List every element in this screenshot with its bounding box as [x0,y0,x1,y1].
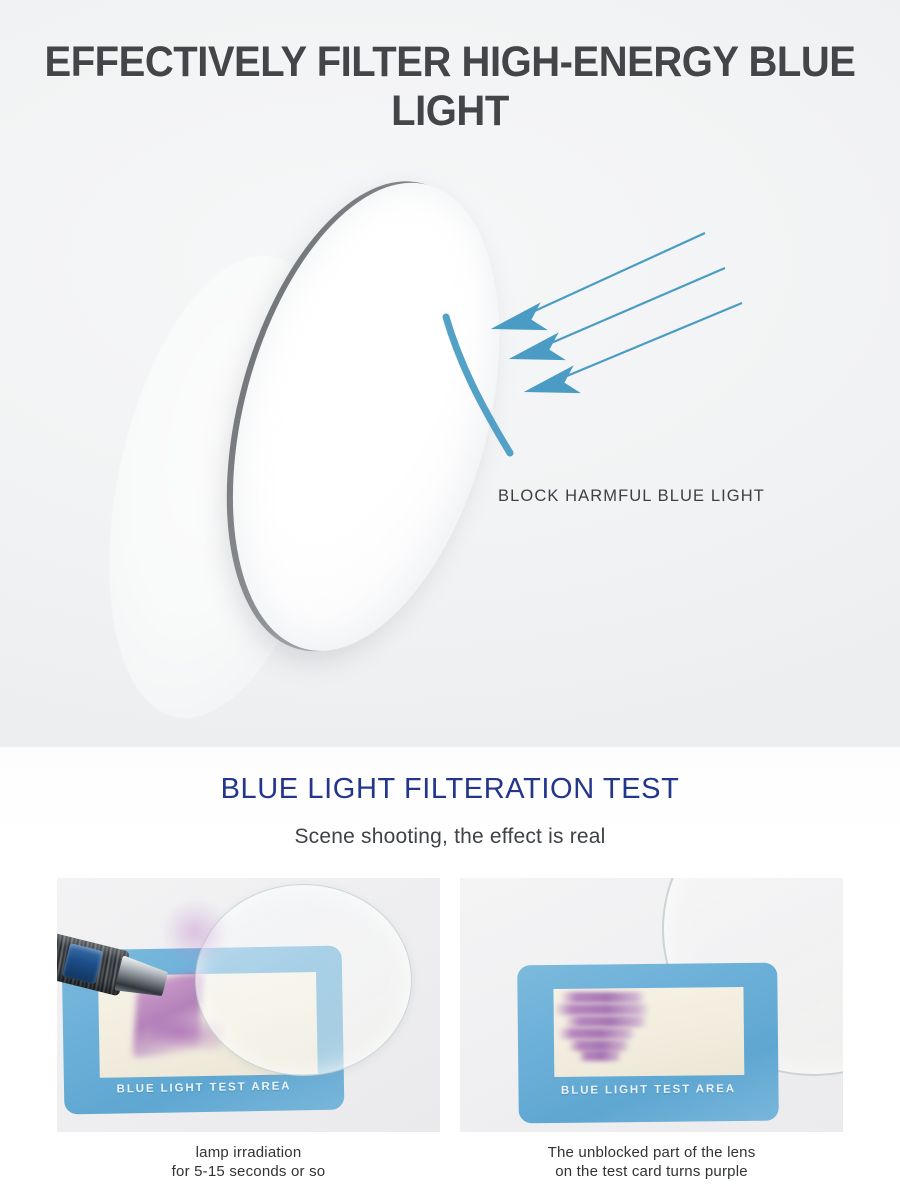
test-section-title: BLUE LIGHT FILTERATION TEST [0,773,900,806]
test-card-label: BLUE LIGHT TEST AREA [64,1080,344,1097]
photo-caption-left: lamp irradiation for 5-15 seconds or so [57,1143,440,1181]
caption-line-1: The unblocked part of the lens [548,1144,756,1161]
test-photo-row: BLUE LIGHT TEST AREA BLUE LIGHT TEST ARE… [57,878,843,1132]
ray-caption: BLOCK HARMFUL BLUE LIGHT [498,487,818,506]
hero-section: EFFECTIVELY FILTER HIGH-ENERGY BLUE LIGH… [0,0,900,746]
caption-line-1: lamp irradiation [196,1144,302,1161]
page-title: EFFECTIVELY FILTER HIGH-ENERGY BLUE LIGH… [32,38,869,136]
test-section-subtitle: Scene shooting, the effect is real [0,825,900,849]
test-card-label: BLUE LIGHT TEST AREA [518,1083,778,1098]
filtration-test-section: BLUE LIGHT FILTERATION TEST Scene shooti… [0,746,900,1199]
photo-caption-right: The unblocked part of the lens on the te… [460,1143,843,1181]
test-photo-result: BLUE LIGHT TEST AREA [460,878,843,1132]
penlight-tip [114,955,169,1002]
test-photo-lamp: BLUE LIGHT TEST AREA [57,878,440,1132]
caption-line-2: on the test card turns purple [555,1163,748,1180]
blue-light-rays-icon [420,225,870,475]
purple-stain [554,990,666,1056]
clear-lens-overlay [195,884,412,1076]
caption-line-2: for 5-15 seconds or so [172,1163,326,1180]
penlight-uv-glow [165,902,225,962]
